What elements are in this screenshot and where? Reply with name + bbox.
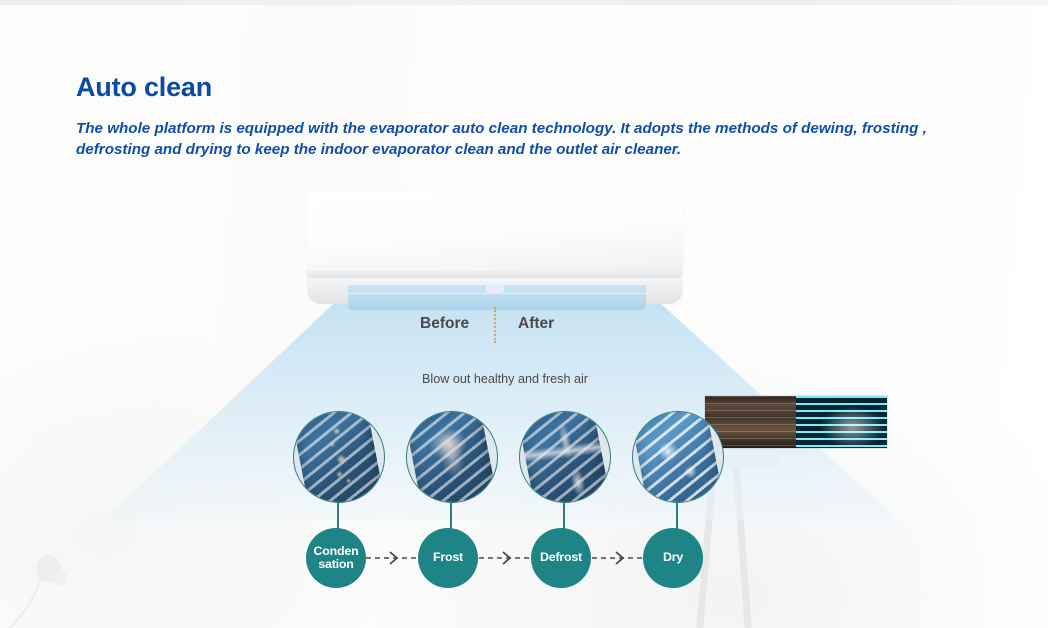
stage-photo-defrost bbox=[519, 411, 611, 503]
stage-stem-dry bbox=[676, 501, 678, 529]
coil-image-condensation bbox=[293, 411, 385, 503]
stage-photo-frost bbox=[406, 411, 498, 503]
coil-image-defrost bbox=[519, 411, 611, 503]
coil-image-dry bbox=[632, 411, 724, 503]
background-plant-decor bbox=[8, 550, 118, 628]
defrost-overlay bbox=[519, 411, 611, 503]
evaporator-window bbox=[705, 396, 887, 448]
dry-sparkle-overlay bbox=[632, 411, 724, 503]
stage-photo-condensation bbox=[293, 411, 385, 503]
badge-label-defrost[interactable]: Defrost bbox=[531, 528, 591, 588]
arrow-condensation-to-frost bbox=[366, 551, 420, 565]
evaporator-glow-highlight bbox=[796, 396, 887, 448]
ac-louver-center-notch bbox=[486, 284, 504, 293]
ac-body-shell bbox=[307, 192, 683, 280]
air-conditioner-unit bbox=[307, 192, 683, 280]
top-band bbox=[0, 0, 1048, 5]
condensation-droplets-overlay bbox=[293, 411, 385, 503]
before-label: Before bbox=[420, 315, 469, 333]
badge-label-frost[interactable]: Frost bbox=[418, 528, 478, 588]
airflow-caption: Blow out healthy and fresh air bbox=[0, 372, 1010, 386]
badge-label-dry[interactable]: Dry bbox=[643, 528, 703, 588]
page-title: Auto clean bbox=[76, 72, 212, 103]
before-after-divider bbox=[494, 307, 496, 343]
arrow-frost-to-defrost bbox=[479, 551, 533, 565]
stage-stem-condensation bbox=[337, 501, 339, 529]
slide-canvas: Auto clean The whole platform is equippe… bbox=[0, 0, 1048, 628]
coil-image-frost bbox=[406, 411, 498, 503]
stage-photo-dry bbox=[632, 411, 724, 503]
page-subtitle: The whole platform is equipped with the … bbox=[76, 118, 956, 160]
badge-label-condensation[interactable]: Conden sation bbox=[306, 528, 366, 588]
arrow-defrost-to-dry bbox=[592, 551, 646, 565]
stage-stem-frost bbox=[450, 501, 452, 529]
frost-overlay bbox=[406, 411, 498, 503]
stage-stem-defrost bbox=[563, 501, 565, 529]
after-label: After bbox=[518, 315, 554, 333]
badge-line-2: sation bbox=[318, 557, 353, 571]
badge-line-1: Conden bbox=[314, 544, 359, 558]
